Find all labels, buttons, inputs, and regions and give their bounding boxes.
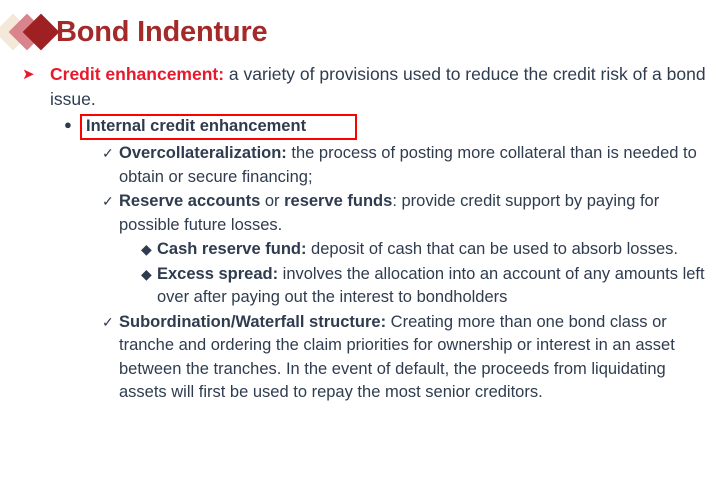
list-item-term: Overcollateralization: [119, 144, 287, 162]
list-item-internal-credit-enhancement: ● Internal credit enhancement [0, 114, 712, 140]
check-bullet-icon: ✓ [102, 190, 119, 214]
list-item-term: Credit enhancement: [50, 64, 224, 84]
list-item-overcollateralization: ✓ Overcollateralization: the process of … [0, 142, 712, 189]
slide-header: Bond Indenture [0, 8, 267, 56]
list-item-cash-reserve-fund: ◆ Cash reserve fund: deposit of cash tha… [0, 238, 712, 262]
check-bullet-icon: ✓ [102, 311, 119, 335]
highlight-box-internal-credit-enhancement: Internal credit enhancement [80, 114, 357, 140]
list-item-text: Cash reserve fund: deposit of cash that … [157, 238, 712, 262]
list-item-subordination-waterfall: ✓ Subordination/Waterfall structure: Cre… [0, 311, 712, 405]
check-bullet-icon: ✓ [102, 142, 119, 166]
list-item-excess-spread: ◆ Excess spread: involves the allocation… [0, 263, 712, 310]
diamond-bullet-icon: ◆ [141, 263, 157, 287]
list-item-credit-enhancement: ➤ Credit enhancement: a variety of provi… [0, 62, 712, 112]
list-item-text: Reserve accounts or reserve funds: provi… [119, 190, 712, 237]
slide-body: ➤ Credit enhancement: a variety of provi… [0, 62, 712, 405]
list-item-text: Overcollateralization: the process of po… [119, 142, 712, 189]
list-item-text: Credit enhancement: a variety of provisi… [50, 62, 712, 112]
list-item-term-b: reserve funds [284, 192, 392, 210]
arrow-bullet-icon: ➤ [22, 62, 50, 87]
list-item-conjunction: or [260, 192, 284, 210]
three-diamonds-icon [0, 10, 58, 54]
list-item-term: Subordination/Waterfall structure: [119, 313, 386, 331]
list-item-description: deposit of cash that can be used to abso… [306, 240, 677, 258]
list-item-reserve-accounts: ✓ Reserve accounts or reserve funds: pro… [0, 190, 712, 237]
list-item-text: Subordination/Waterfall structure: Creat… [119, 311, 712, 405]
list-item-term: Excess spread: [157, 265, 278, 283]
list-item-term: Cash reserve fund: [157, 240, 306, 258]
disc-bullet-icon: ● [64, 114, 80, 136]
list-item-text: Excess spread: involves the allocation i… [157, 263, 712, 310]
list-item-term-a: Reserve accounts [119, 192, 260, 210]
diamond-bullet-icon: ◆ [141, 238, 157, 262]
list-item-text: Internal credit enhancement [80, 114, 712, 140]
page-title: Bond Indenture [56, 18, 267, 47]
slide-canvas: Bond Indenture ➤ Credit enhancement: a v… [0, 0, 712, 486]
